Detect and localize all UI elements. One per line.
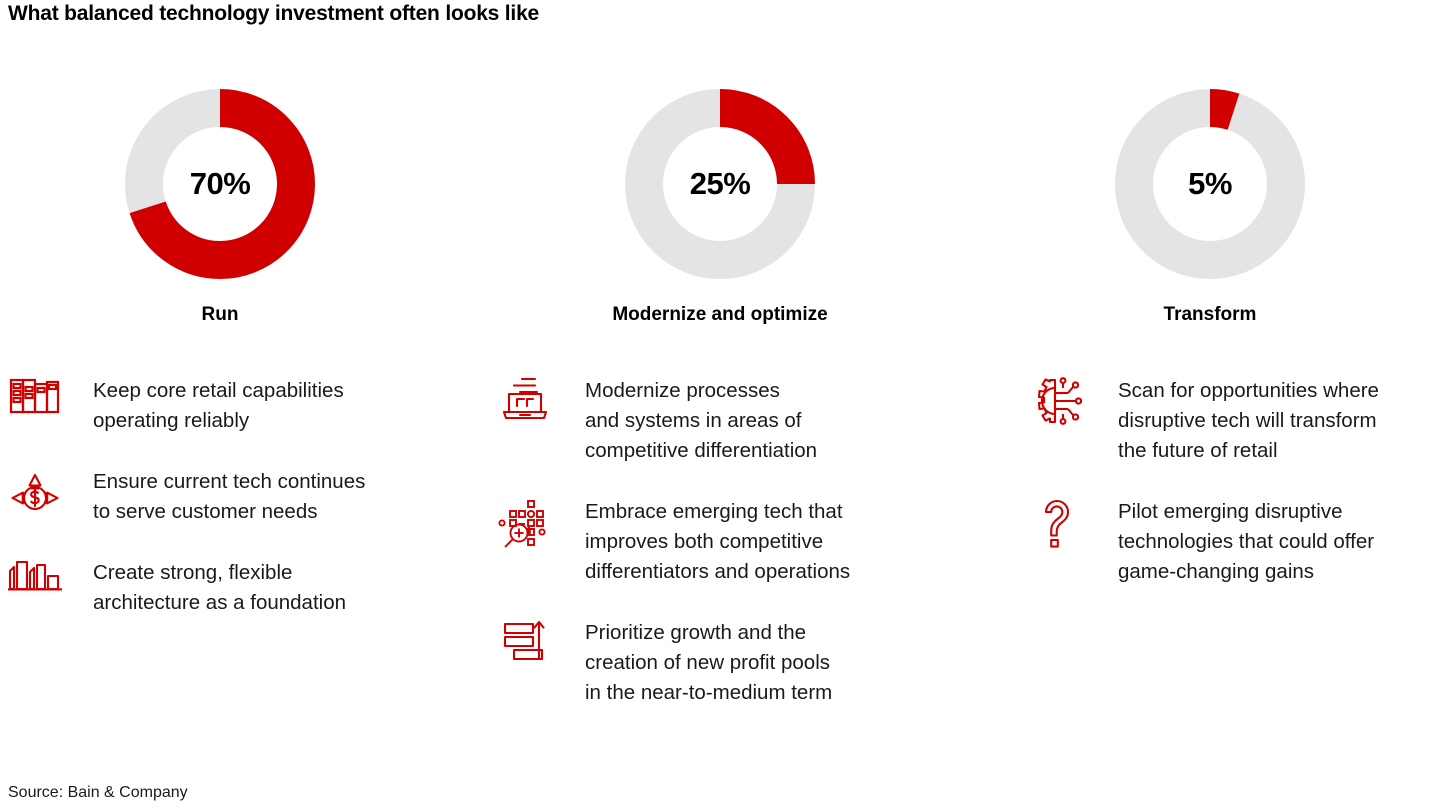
donut-percent-label-run: 70%	[120, 84, 320, 284]
server-racks-icon	[4, 374, 66, 436]
magnifier-data-icon	[494, 495, 556, 557]
gear-circuit-icon	[1028, 374, 1090, 436]
question-mark-icon	[1028, 495, 1090, 557]
list-item: Ensure current tech continues to serve c…	[4, 465, 470, 527]
list-item-label: Embrace emerging tech that improves both…	[585, 495, 850, 587]
list-item: Create strong, flexible architecture as …	[4, 556, 470, 618]
list-item: Pilot emerging disruptive technologies t…	[1028, 495, 1440, 587]
source-note: Source: Bain & Company	[8, 784, 188, 802]
laptop-upgrade-icon	[494, 374, 556, 436]
list-item: Modernize processes and systems in areas…	[494, 374, 1000, 466]
bullet-list-modernize: Modernize processes and systems in areas…	[480, 374, 1000, 708]
skyline-bars-icon	[4, 556, 66, 618]
column-run: 70% Run	[0, 80, 470, 647]
page-title: What balanced technology investment ofte…	[8, 2, 539, 26]
growth-bars-arrow-icon	[494, 616, 556, 678]
donut-chart-transform: 5%	[1110, 84, 1310, 284]
list-item: Keep core retail capabilities operating …	[4, 374, 470, 436]
column-heading-modernize: Modernize and optimize	[480, 304, 960, 326]
bullet-list-transform: Scan for opportunities where disruptive …	[1010, 374, 1440, 587]
donut-chart-modernize: 25%	[620, 84, 820, 284]
list-item-label: Keep core retail capabilities operating …	[93, 374, 344, 436]
donut-chart-run: 70%	[120, 84, 320, 284]
infographic-page: What balanced technology investment ofte…	[0, 0, 1440, 810]
list-item-label: Prioritize growth and the creation of ne…	[585, 616, 832, 708]
column-transform: 5% Transform	[1010, 80, 1440, 616]
list-item-label: Scan for opportunities where disruptive …	[1118, 374, 1379, 466]
list-item: Scan for opportunities where disruptive …	[1028, 374, 1440, 466]
column-modernize-and-optimize: 25% Modernize and optimize	[480, 80, 1000, 737]
dollar-expand-arrows-icon	[4, 465, 66, 527]
list-item-label: Pilot emerging disruptive technologies t…	[1118, 495, 1374, 587]
list-item-label: Create strong, flexible architecture as …	[93, 556, 346, 618]
list-item: Prioritize growth and the creation of ne…	[494, 616, 1000, 708]
donut-percent-label-modernize: 25%	[620, 84, 820, 284]
bullet-list-run: Keep core retail capabilities operating …	[0, 374, 470, 618]
column-heading-run: Run	[0, 304, 440, 326]
column-heading-transform: Transform	[1010, 304, 1410, 326]
list-item-label: Modernize processes and systems in areas…	[585, 374, 817, 466]
list-item: Embrace emerging tech that improves both…	[494, 495, 1000, 587]
donut-percent-label-transform: 5%	[1110, 84, 1310, 284]
list-item-label: Ensure current tech continues to serve c…	[93, 465, 365, 527]
